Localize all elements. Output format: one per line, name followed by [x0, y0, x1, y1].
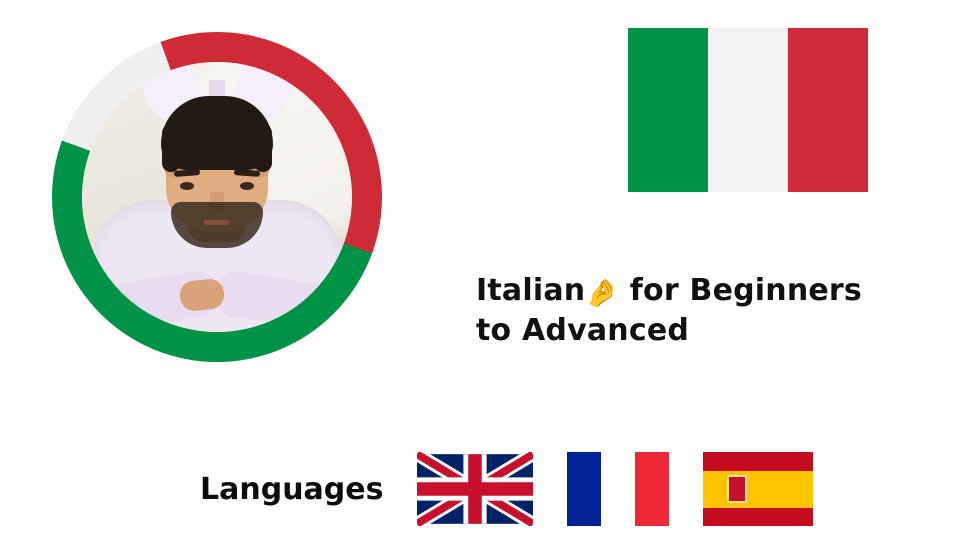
languages-label: Languages [200, 472, 383, 507]
title-line-two: to Advanced [476, 313, 689, 348]
french-flag [567, 452, 669, 526]
spain-coat-of-arms-icon [725, 473, 749, 505]
page-title: Italian🤌 for Beginners to Advanced [476, 272, 926, 350]
title-text-after-emoji: for Beginners [619, 273, 862, 308]
avatar [52, 32, 382, 362]
spanish-flag [703, 452, 813, 526]
title-text-before-emoji: Italian [476, 273, 585, 308]
slide-canvas: Italian🤌 for Beginners to Advanced Langu… [0, 0, 960, 540]
italian-flag [628, 28, 868, 192]
pinched-fingers-icon: 🤌 [585, 278, 619, 309]
uk-flag [417, 452, 533, 526]
avatar-photo-mask [82, 62, 352, 332]
languages-row: Languages [200, 452, 840, 526]
instructor-portrait [82, 62, 352, 332]
